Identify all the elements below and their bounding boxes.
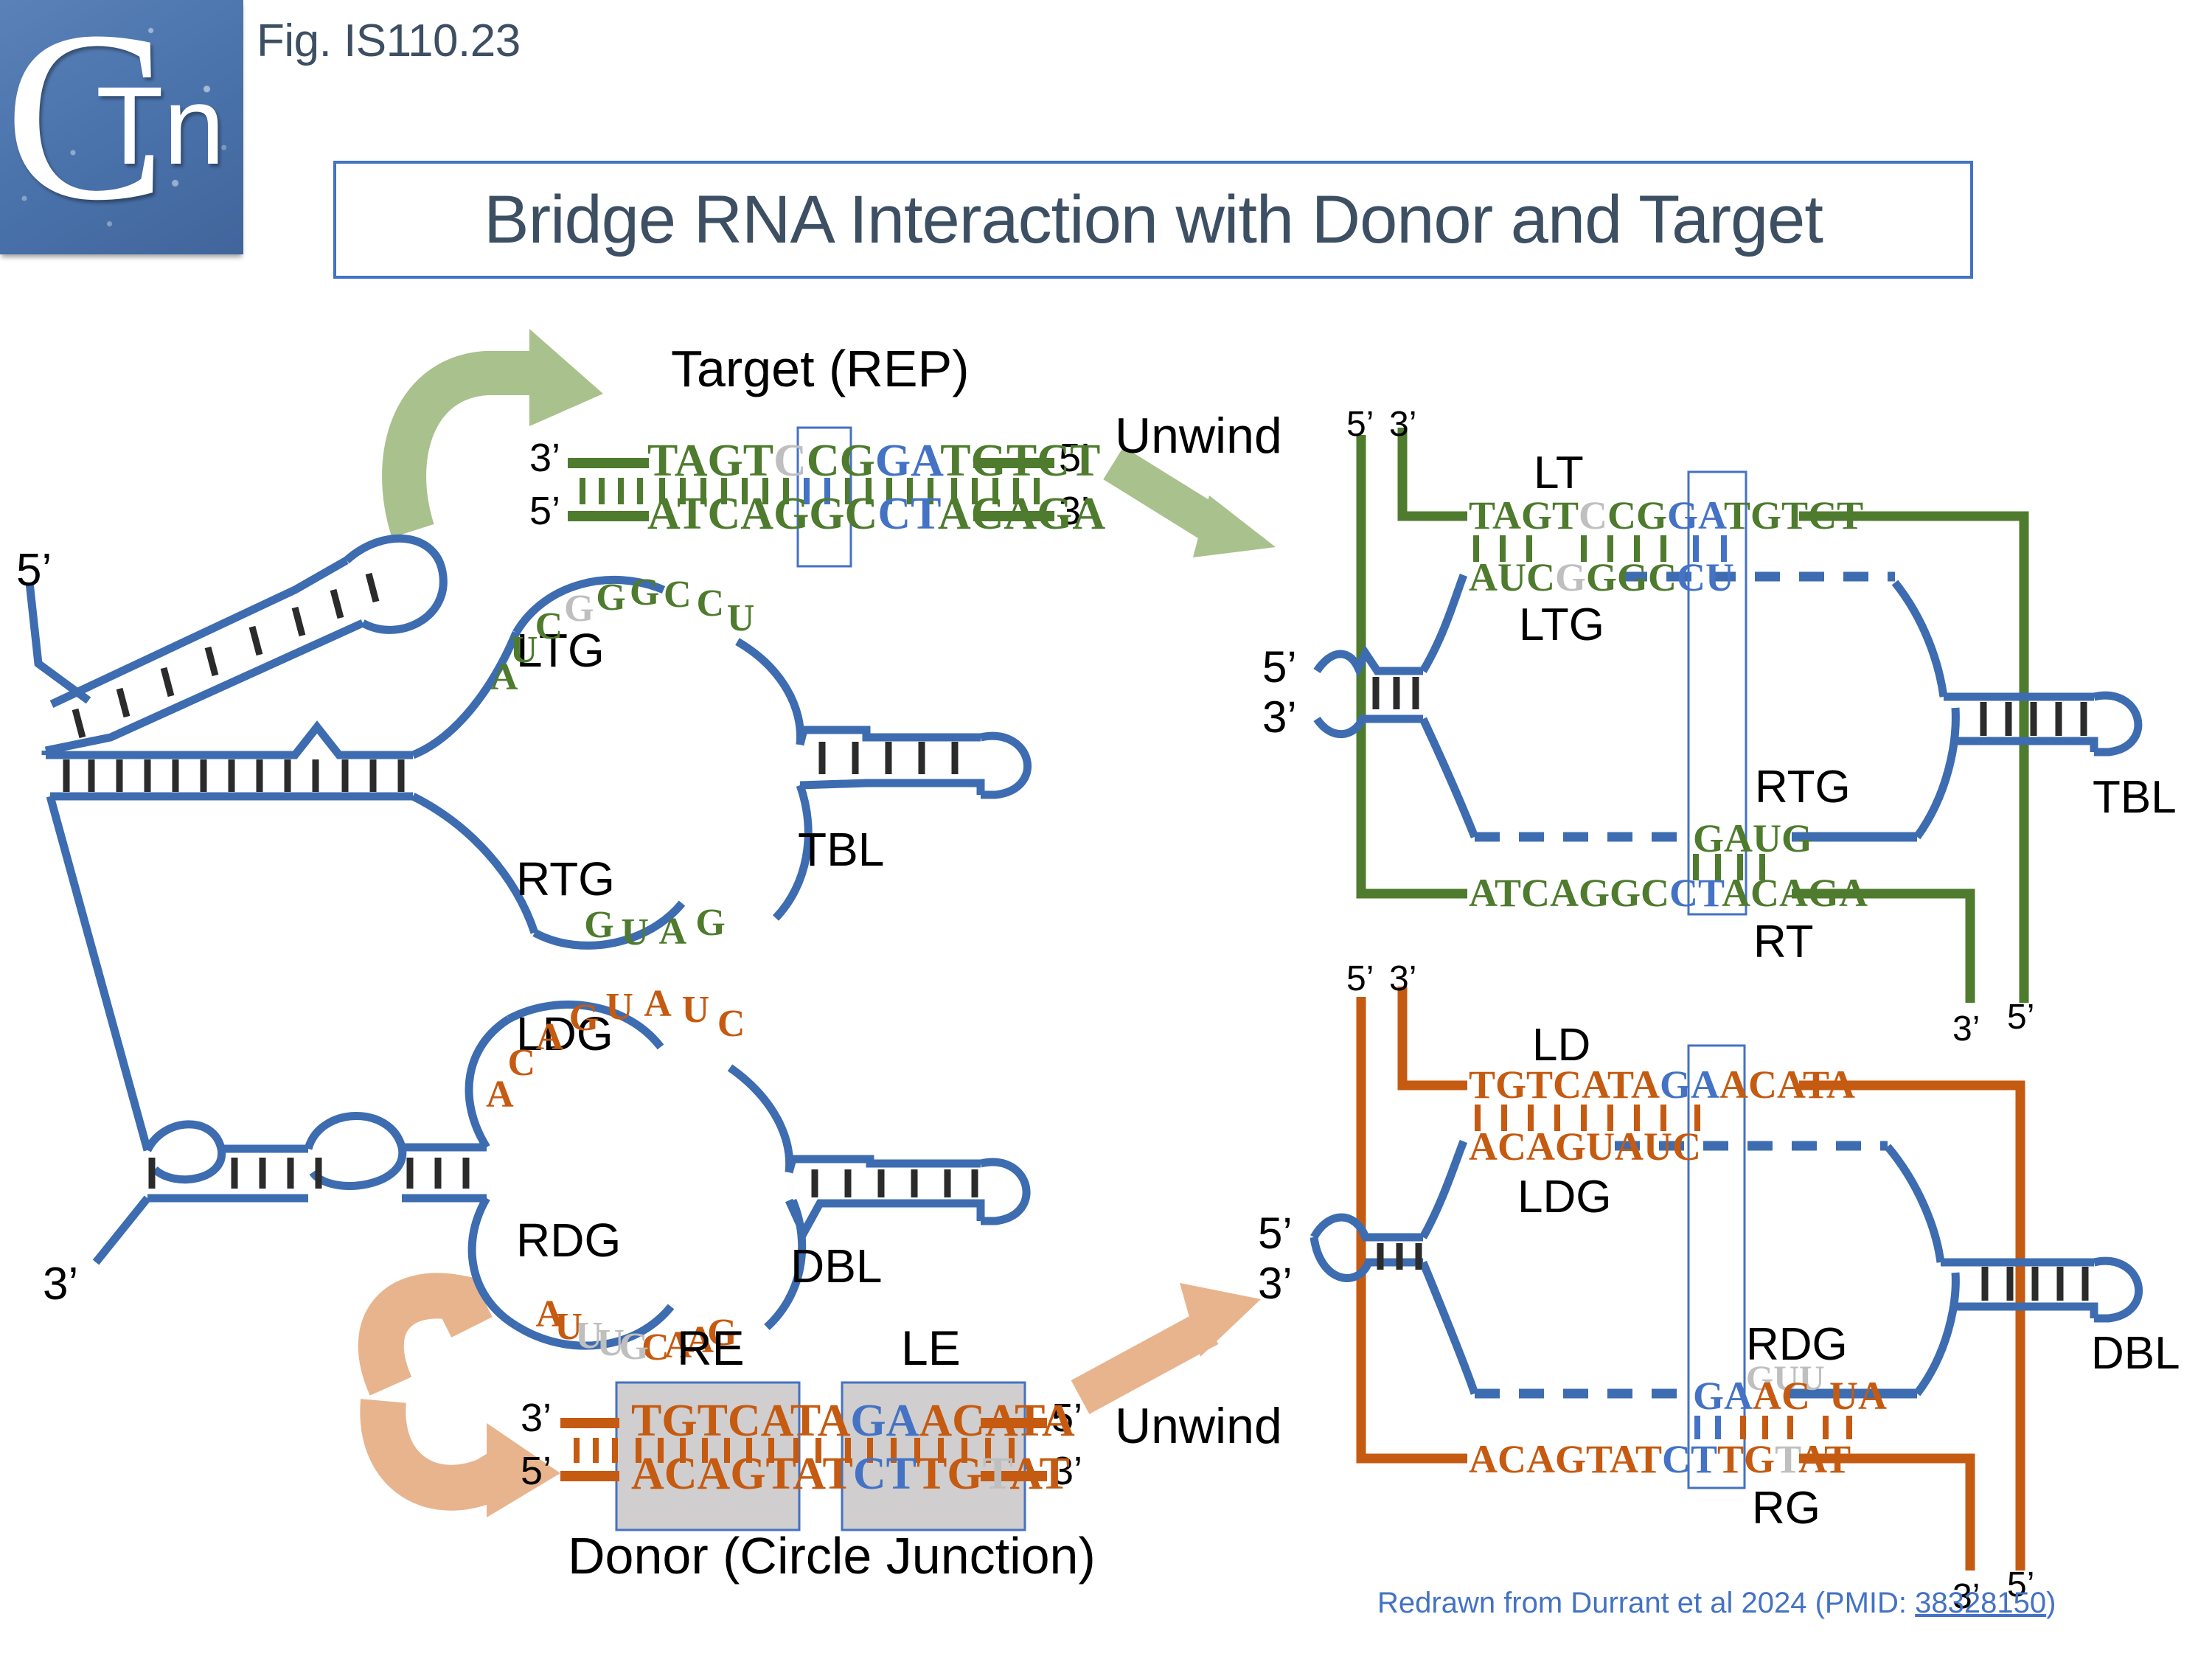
target-complex-stem-3prime: 3’ bbox=[1262, 692, 1297, 742]
seq-part: TAGT bbox=[1469, 493, 1579, 538]
seq-part: AT bbox=[1798, 1437, 1851, 1481]
donor-complex-rdg-sequence: GAACUA bbox=[1693, 1373, 1887, 1419]
seq-part: TGTCATA bbox=[1469, 1062, 1660, 1107]
citation-text-after: ) bbox=[2046, 1587, 2056, 1619]
donor-complex-blue-rna bbox=[1314, 1141, 2139, 1394]
seq-part-gray: C bbox=[773, 436, 807, 486]
seq-core: GA bbox=[1693, 1374, 1753, 1418]
seq-part: GGC bbox=[1586, 555, 1677, 599]
target-rep-top-left-prime: 3’ bbox=[529, 435, 560, 481]
seq-part: UA bbox=[1829, 1374, 1887, 1418]
bridge-rna-tbl-label: TBL bbox=[798, 822, 884, 877]
donor-complex-ld-sequence: TGTCATAGAACATA bbox=[1469, 1062, 1855, 1107]
unwind-label-donor: Unwind bbox=[1115, 1397, 1282, 1455]
seq-core: CU bbox=[1677, 555, 1734, 599]
target-complex-rt-label: RT bbox=[1753, 916, 1814, 968]
donor-complex-top-prime-5: 5’ bbox=[1346, 959, 1374, 999]
donor-heading: Donor (Circle Junction) bbox=[568, 1526, 1096, 1585]
seq-part-gray: T bbox=[1775, 1437, 1798, 1481]
target-complex-ltg-sequence: AUCGGGCCU bbox=[1469, 554, 1734, 600]
seq-part-gray: C bbox=[1579, 493, 1607, 538]
target-complex-top-prime-5: 5’ bbox=[1346, 404, 1374, 445]
unwind-label-target: Unwind bbox=[1115, 407, 1282, 465]
bridge-rna-ltg-label: LTG bbox=[516, 623, 605, 678]
donor-le-label: LE bbox=[901, 1320, 961, 1376]
seq-core: GA bbox=[1660, 1062, 1719, 1107]
bridge-rna-rtg-label: RTG bbox=[516, 852, 615, 906]
target-complex-rtg-sequence: GAUG bbox=[1693, 815, 1812, 861]
donor-complex-top-prime-3: 3’ bbox=[1389, 959, 1416, 999]
seq-part: ACAGTAT bbox=[631, 1449, 853, 1499]
unwind-arrow-target bbox=[1113, 463, 1276, 557]
target-rep-bottom-left-prime: 5’ bbox=[529, 488, 560, 534]
seq-core: C bbox=[1672, 1124, 1701, 1169]
seq-core: CT bbox=[853, 1449, 917, 1499]
seq-part-gray: T bbox=[983, 1449, 1010, 1499]
seq-part: CG bbox=[807, 436, 875, 486]
target-complex-lt-label: LT bbox=[1534, 447, 1584, 499]
bridge-rna-5prime: 5’ bbox=[16, 544, 52, 597]
donor-complex-stem-3prime: 3’ bbox=[1258, 1258, 1293, 1309]
target-complex-tbl-label: TBL bbox=[2093, 771, 2177, 824]
unwind-arrow-donor bbox=[1080, 1283, 1261, 1397]
target-complex-lt-sequence: TAGTCCGGATGTCT bbox=[1469, 493, 1863, 538]
donor-complex-stem-ticks bbox=[1380, 1243, 2085, 1301]
seq-part: ACATA bbox=[919, 1396, 1074, 1446]
target-complex-ltg-label: LTG bbox=[1519, 599, 1604, 651]
donor-top-left-prime: 3’ bbox=[521, 1395, 552, 1441]
seq-core: CT bbox=[1662, 1437, 1717, 1481]
seq-part-gray: G bbox=[1555, 555, 1586, 599]
green-feed-arrow bbox=[404, 329, 603, 531]
seq-part: TG bbox=[917, 1449, 983, 1499]
donor-complex-rg-sequence: ACAGTATCTTGTAT bbox=[1469, 1436, 1851, 1482]
seq-part: ACAGUAU bbox=[1469, 1124, 1672, 1169]
seq-part: ACAGA bbox=[1722, 871, 1868, 915]
target-rep-top-sequence: TAGTCCGGATGTCT bbox=[647, 435, 1100, 487]
target-complex-bottom-prime-3: 3’ bbox=[1952, 1009, 1980, 1049]
target-complex-bottom-prime-5: 5’ bbox=[2007, 997, 2034, 1037]
target-rep-heading: Target (REP) bbox=[671, 339, 970, 398]
seq-part: ACAGTAT bbox=[1469, 1437, 1662, 1481]
donor-complex-ldg-sequence: ACAGUAUC bbox=[1469, 1124, 1701, 1169]
target-complex-stem-5prime: 5’ bbox=[1262, 641, 1297, 692]
seq-part: TGTCT bbox=[1724, 493, 1863, 538]
bridge-rna-dbl-label: DBL bbox=[790, 1239, 883, 1293]
seq-core: GA bbox=[850, 1396, 919, 1446]
donor-complex-rg-label: RG bbox=[1752, 1482, 1820, 1534]
pmid-link[interactable]: 38328150 bbox=[1915, 1587, 2046, 1619]
seq-part: AT bbox=[1009, 1449, 1070, 1499]
target-complex-top-prime-3: 3’ bbox=[1389, 404, 1416, 445]
seq-core: GA bbox=[1667, 493, 1724, 538]
seq-part: ATCAGGC bbox=[1469, 871, 1669, 915]
seq-part: AUC bbox=[1469, 555, 1555, 599]
target-rep-bottom-sequence: ATCAGGCCTACAGA bbox=[647, 488, 1105, 540]
target-complex-stem-ticks bbox=[1376, 677, 2084, 736]
seq-part: ATCAGGC bbox=[647, 489, 877, 539]
seq-part: CG bbox=[1607, 493, 1667, 538]
seq-core: GA bbox=[1693, 816, 1753, 860]
target-complex-blue-rna bbox=[1317, 575, 2138, 837]
bridge-rna-3prime: 3’ bbox=[43, 1258, 78, 1310]
donor-complex-stem-5prime: 5’ bbox=[1258, 1208, 1293, 1259]
donor-top-sequence: TGTCATAGAACATA bbox=[631, 1395, 1075, 1447]
donor-complex-dbl-label: DBL bbox=[2091, 1327, 2180, 1380]
seq-part: ACAGA bbox=[938, 489, 1105, 539]
seq-core: CT bbox=[1669, 871, 1722, 915]
seq-part: TG bbox=[1717, 1437, 1775, 1481]
bridge-rna-ldg-label: LDG bbox=[516, 1006, 613, 1061]
donor-bottom-left-prime: 5’ bbox=[521, 1448, 552, 1494]
donor-bottom-sequence: ACAGTATCTTGTAT bbox=[631, 1448, 1070, 1500]
seq-core: CT bbox=[877, 489, 938, 539]
citation-text-before: Redrawn from Durrant et al 2024 (PMID: bbox=[1377, 1587, 1915, 1619]
seq-part: ACATA bbox=[1719, 1062, 1855, 1107]
seq-part: AC bbox=[1753, 1374, 1810, 1418]
seq-part: UG bbox=[1753, 816, 1812, 860]
seq-core: GA bbox=[875, 436, 940, 486]
seq-part: TGTCATA bbox=[631, 1396, 850, 1446]
donor-complex-ldg-label: LDG bbox=[1517, 1171, 1611, 1223]
bridge-rna-rdg-label: RDG bbox=[516, 1213, 621, 1267]
seq-part: TAGT bbox=[647, 436, 773, 486]
donor-re-label: RE bbox=[677, 1320, 745, 1376]
target-complex-rt-sequence: ATCAGGCCTACAGA bbox=[1469, 870, 1868, 916]
citation-footer: Redrawn from Durrant et al 2024 (PMID: 3… bbox=[1377, 1587, 2056, 1620]
seq-part: TGTCT bbox=[940, 436, 1100, 486]
target-complex-rtg-label: RTG bbox=[1755, 761, 1851, 813]
